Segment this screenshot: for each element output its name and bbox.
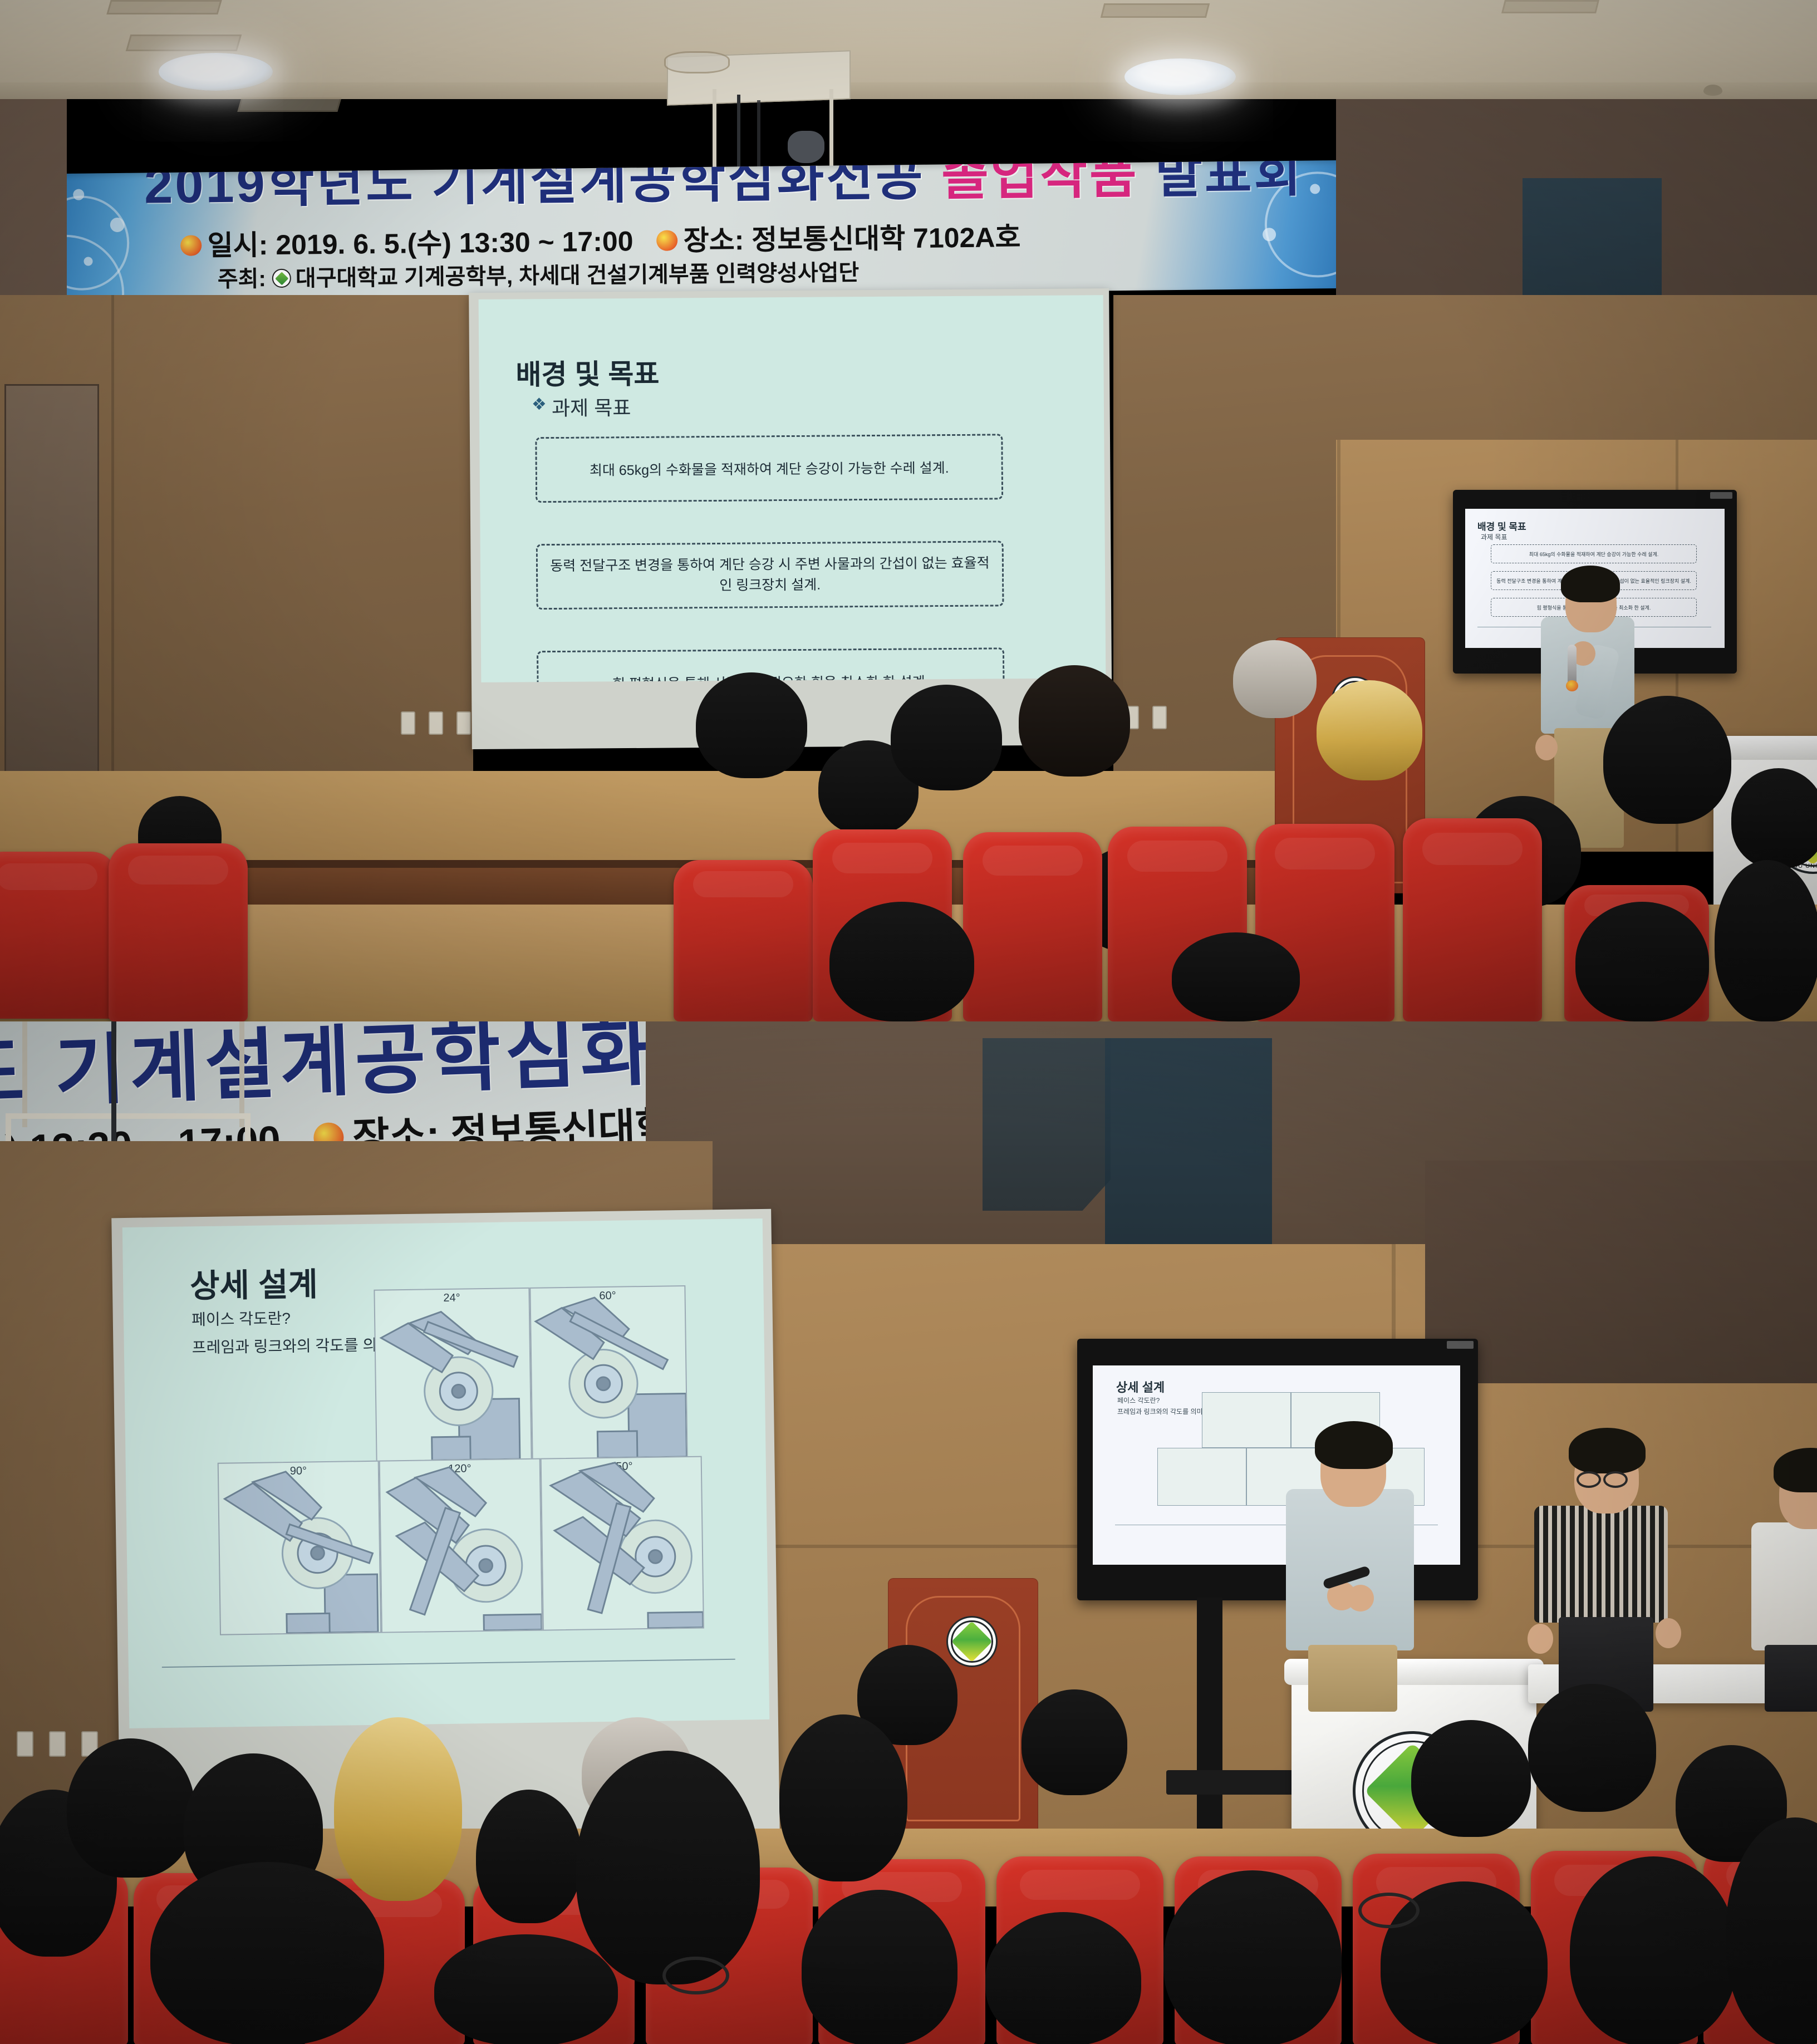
ceiling-beam-top: [0, 82, 1817, 99]
ceiling-light: [1124, 58, 1236, 95]
side-door: [4, 384, 99, 774]
ceiling-vent-icon: [664, 51, 730, 73]
banner-place-value: 정보통신대학 7102A호: [752, 222, 1021, 255]
presenter-pants: [1308, 1645, 1397, 1712]
ceiling-light: [159, 53, 273, 91]
audience-head: [891, 685, 1002, 790]
presenter-bottom-right: [1520, 1406, 1687, 1695]
ceiling-vent-icon: [1101, 3, 1210, 18]
photo-bottom: 2019학년도 기계설계공학심화전공 졸업작품 발표회 일시: 2019. 6.…: [0, 1021, 1817, 2044]
audience-head: [779, 1714, 907, 1881]
audience-head: [1603, 696, 1731, 824]
seat: [109, 843, 248, 1021]
banner-place-label: 장소:: [683, 224, 744, 256]
photo-collage: 2019학년도 기계설계공학심화전공 졸업작품 발표회 일시: 2019. 6.…: [0, 0, 1817, 2044]
presenter-hair: [1774, 1448, 1817, 1492]
banner-title-part2: 발표회: [1155, 160, 1304, 204]
wall-seam: [111, 295, 114, 852]
tv-mech-cell: [1157, 1448, 1246, 1506]
mechanism-cell-120: 120°: [379, 1458, 543, 1633]
audience-head: [1233, 640, 1317, 718]
seat: [963, 832, 1102, 1021]
slide-title-bottom: 상세 설계: [190, 1258, 318, 1306]
daegu-university-seal: [946, 1616, 998, 1667]
presenter-shirt: [1534, 1506, 1668, 1623]
photo-top: 2019학년도 기계설계공학심화전공 졸업작품 발표회 일시: 2019. 6.…: [0, 0, 1817, 1021]
slide-background-projected-bottom: 상세 설계 페이스 각도란? 프레임과 링크와의 각도를 의미 24°: [122, 1218, 769, 1728]
audience-head: [1575, 902, 1709, 1021]
tv-slide-note-1: 페이스 각도란?: [1117, 1396, 1160, 1405]
audience-head: [696, 672, 807, 778]
smoke-detector-icon: [1703, 85, 1722, 96]
slide-goal-box-1: 최대 65kg의 수화물을 적재하여 계단 승강이 가능한 수레 설계.: [535, 434, 1003, 503]
slide-footer-rule-bottom: [162, 1659, 735, 1668]
presenter-hand: [1347, 1585, 1374, 1611]
tv-slide-title: 배경 및 목표: [1477, 519, 1526, 533]
presenter-hand: [1535, 735, 1558, 760]
bullet-dot-icon: [180, 235, 202, 256]
slide-subtitle: 과제 목표: [552, 392, 631, 421]
audience-head: [1019, 665, 1130, 777]
audience-head: [1715, 860, 1817, 1021]
slide-background-projected: 배경 및 목표 ❖ 과제 목표 최대 65kg의 수화물을 적재하여 계단 승강…: [479, 295, 1106, 682]
daegu-university-seal-icon: [272, 269, 291, 288]
audience-head: [1163, 1870, 1342, 2044]
slide-note-line-2: 프레임과 링크와의 각도를 의미: [191, 1333, 391, 1358]
hanging-speaker: [983, 1038, 1111, 1211]
banner-date-value: 2019. 6. 5.(수) 13:30 ~ 17:00: [276, 225, 634, 261]
eyeglasses-icon: [1358, 1893, 1420, 1928]
wall-outlet: [49, 1731, 66, 1757]
audience-head: [1528, 1684, 1656, 1812]
presenter-hair: [1569, 1428, 1646, 1473]
tv-slide-title-bottom: 상세 설계: [1116, 1378, 1165, 1396]
bullet-dot-icon: [656, 230, 677, 251]
audience-head: [434, 1934, 618, 2044]
tv-slide-note-2: 프레임과 링크와의 각도를 의미: [1117, 1407, 1203, 1416]
presenter-shirt: [1751, 1522, 1817, 1650]
audience-head: [67, 1738, 195, 1878]
tv-slide-subtitle: 과제 목표: [1481, 532, 1507, 542]
audience-head: [576, 1751, 760, 1984]
tv-brand-logo-icon: [1447, 1341, 1474, 1349]
ceiling-vent-icon: [106, 0, 222, 14]
audience-head: [1411, 1720, 1531, 1837]
mechanism-cell-60: 60°: [529, 1285, 687, 1460]
wall-outlet: [456, 711, 471, 735]
wall-bottom-far-right: [1425, 1161, 1817, 1383]
banner-datetime-line: 일시: 2019. 6. 5.(수) 13:30 ~ 17:00 장소: 정보통…: [180, 215, 1021, 264]
banner-title: 2019학년도 기계설계공학심화전공 졸업작품 발표회: [144, 160, 1303, 218]
slide-title: 배경 및 목표: [515, 352, 659, 393]
event-banner-top: 2019학년도 기계설계공학심화전공 졸업작품 발표회 일시: 2019. 6.…: [56, 160, 1343, 302]
ceiling-vent-icon: [126, 35, 242, 51]
presenter-bottom-left: [1269, 1406, 1436, 1695]
ceiling-vent-icon: [237, 97, 341, 112]
wall-outlet: [401, 711, 415, 735]
projector-rod: [239, 1021, 244, 1127]
slide-goal-box-2: 동력 전달구조 변경을 통하여 계단 승강 시 주변 사물과의 간섭이 없는 효…: [536, 541, 1004, 610]
presenter-hair: [1315, 1421, 1393, 1469]
presenter-shirt: [1286, 1489, 1414, 1650]
audience-head: [1570, 1856, 1737, 2044]
audience-head: [802, 1890, 957, 2044]
presenter-bottom-far-right: [1737, 1433, 1817, 1701]
ceiling-vent-icon: [1501, 0, 1599, 13]
audience-head: [1731, 768, 1817, 868]
presenter-hair: [1561, 566, 1620, 602]
audience-head: [829, 902, 974, 1021]
audience-head: [150, 1862, 384, 2044]
banner-host-value: 대구대학교 기계공학부, 차세대 건설기계부품 인력양성사업단: [296, 261, 860, 291]
projector-rod: [22, 1021, 27, 1127]
audience-head: [985, 1912, 1141, 2044]
microphone-icon: [1568, 645, 1577, 686]
audience-head: [1022, 1689, 1127, 1795]
seat: [0, 852, 117, 1019]
eyeglasses-icon: [1577, 1471, 1601, 1488]
banner-host-line: 주최: 대구대학교 기계공학부, 차세대 건설기계부품 인력양성사업단: [218, 254, 860, 293]
audience-head: [476, 1790, 582, 1923]
banner-title-part1: 2019학년도 기계설계공학심화전공: [144, 160, 926, 214]
slide-note-line-1: 페이스 각도란?: [191, 1306, 291, 1330]
eyeglasses-icon: [662, 1957, 729, 1994]
mechanism-cell-150: 150°: [541, 1456, 704, 1631]
mechanism-cell-24: 24°: [374, 1288, 532, 1462]
presenter-hand: [1528, 1624, 1553, 1654]
seat: [1403, 818, 1542, 1021]
audience-head: [1317, 680, 1422, 780]
wall-outlet: [17, 1731, 33, 1757]
banner-title-highlight: 졸업작품: [941, 160, 1140, 206]
mechanism-cell-90: 90°: [218, 1461, 381, 1635]
presenter-hand: [1656, 1618, 1681, 1648]
presenter-pants: [1765, 1645, 1817, 1712]
eyeglasses-icon: [1603, 1471, 1628, 1488]
wall-outlet: [429, 711, 443, 735]
banner-host-label: 주최:: [218, 267, 266, 292]
wall-outlet: [1152, 706, 1167, 729]
bullet-diamond-icon: ❖: [532, 395, 547, 414]
audience-head-blond: [334, 1717, 462, 1901]
tv-brand-logo-icon: [1710, 492, 1732, 499]
banner-date-label: 일시:: [207, 229, 268, 261]
audience-head: [1172, 932, 1300, 1021]
seat: [674, 860, 813, 1021]
